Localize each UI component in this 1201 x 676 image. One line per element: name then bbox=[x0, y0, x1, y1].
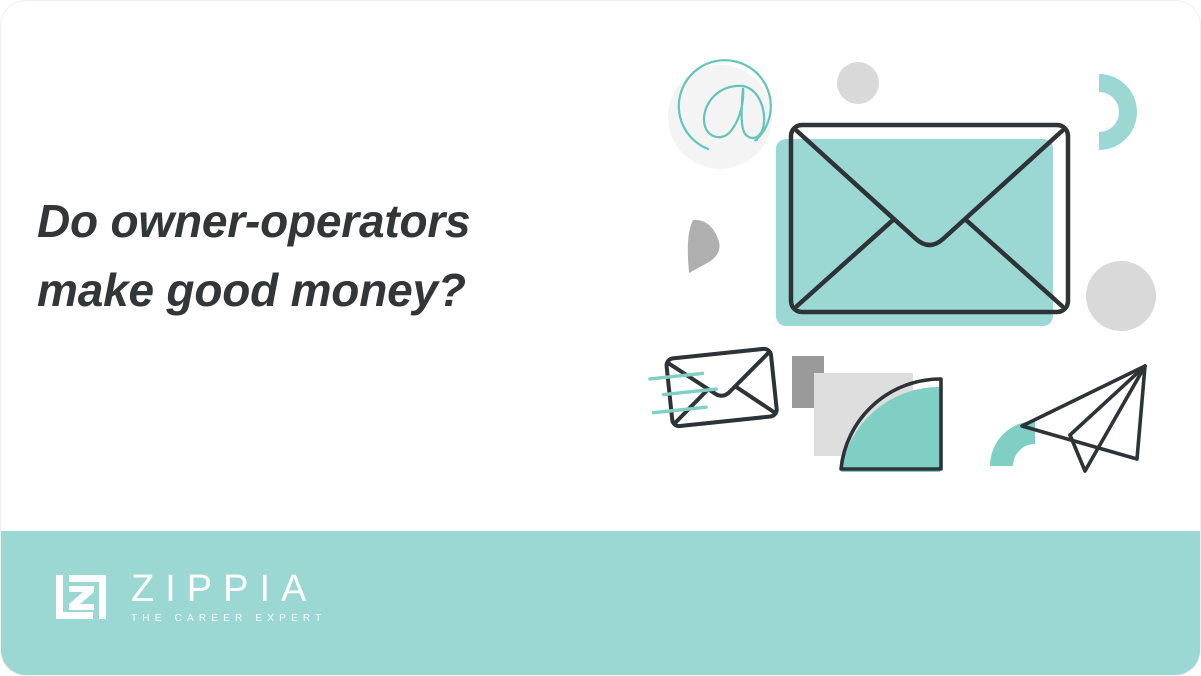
at-symbol-backdrop bbox=[668, 65, 772, 169]
paper-plane-icon bbox=[1022, 366, 1145, 471]
zippia-logo[interactable]: ZIPPIA THE CAREER EXPERT bbox=[53, 569, 326, 625]
zippia-logo-mark bbox=[53, 569, 109, 625]
gray-circle-small bbox=[837, 62, 879, 104]
zippia-tagline: THE CAREER EXPERT bbox=[131, 614, 326, 624]
envelope-small-icon bbox=[648, 348, 777, 428]
gray-comma-shape bbox=[688, 220, 720, 273]
email-illustration bbox=[611, 1, 1201, 531]
teal-crescent-icon bbox=[1099, 74, 1137, 150]
gray-circle-large bbox=[1086, 261, 1156, 331]
page-title: Do owner-operators make good money? bbox=[37, 187, 597, 325]
zippia-logo-text: ZIPPIA THE CAREER EXPERT bbox=[131, 570, 326, 624]
zippia-wordmark: ZIPPIA bbox=[131, 570, 326, 608]
envelope-large-fill bbox=[776, 139, 1053, 326]
motion-lines bbox=[650, 372, 718, 413]
promo-card: Do owner-operators make good money? bbox=[0, 0, 1201, 676]
